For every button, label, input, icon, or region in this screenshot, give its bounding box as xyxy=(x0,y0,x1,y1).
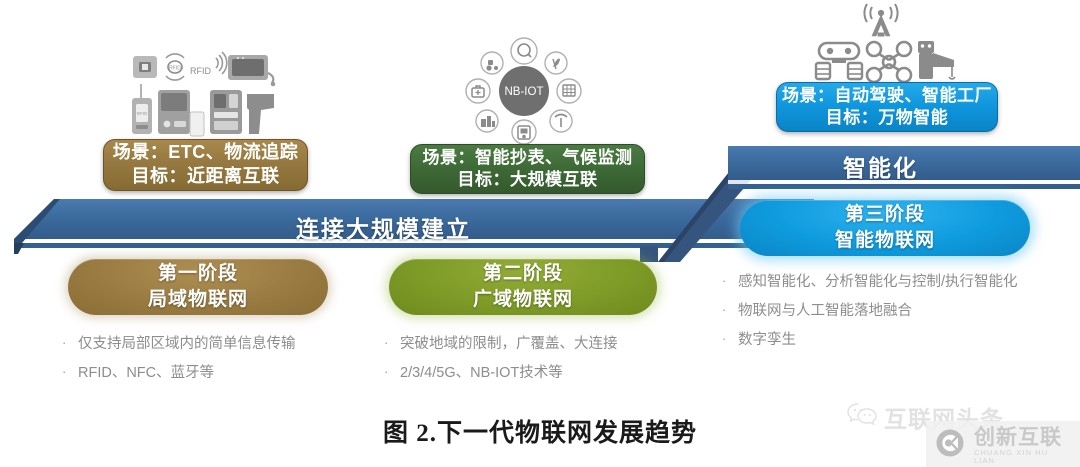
stage2-icon-cluster: NB-IOT xyxy=(463,37,585,145)
stage3-icon-cluster xyxy=(806,3,956,83)
stage3-scenario-line2: 目标：万物智能 xyxy=(826,107,949,129)
nbiot-hub-label: NB-IOT xyxy=(505,86,544,98)
smart-tracking-icon xyxy=(511,38,537,64)
stage3-pill-line1: 第三阶段 xyxy=(845,202,925,228)
bullet-dot: · xyxy=(722,326,738,352)
rfid-gun-scanner-icon xyxy=(247,94,274,134)
bullet-dot: · xyxy=(384,359,400,385)
stage2-bullets: · 突破地域的限制，广覆盖、大连接 · 2/3/4/5G、NB-IOT技术等 xyxy=(384,330,618,388)
rfid-reader-module-icon xyxy=(228,55,275,86)
banner-connectivity-label: 连接大规模建立 xyxy=(296,210,471,244)
stage2-bullet-2: 2/3/4/5G、NB-IOT技术等 xyxy=(400,359,563,388)
brand-watermark: 创新互联 CHUANG XIN HU LIAN xyxy=(926,421,1080,467)
stage1-bullet-2: RFID、NFC、蓝牙等 xyxy=(78,359,214,388)
stage3-bullet-2: 物联网与人工智能落地融合 xyxy=(738,297,912,326)
stage1-bullet-1: 仅支持局部区域内的简单信息传输 xyxy=(78,330,296,359)
stage3-bullets: · 感知智能化、分析智能化与控制/执行智能化 · 物联网与人工智能落地融合 · … xyxy=(722,268,1018,355)
brand-logo-text: 创新互联 CHUANG XIN HU LIAN xyxy=(974,427,1068,465)
robot-rover-icon xyxy=(816,43,862,79)
svg-text:RFID: RFID xyxy=(169,66,181,72)
drone-icon xyxy=(867,42,911,82)
robotic-arm-icon xyxy=(918,41,955,79)
stage3-bullet-1: 感知智能化、分析智能化与控制/执行智能化 xyxy=(738,268,1018,297)
rfid-label-icon: RFID xyxy=(190,52,227,76)
svg-text:RFID: RFID xyxy=(190,66,211,76)
rfid-card-icon xyxy=(190,112,204,136)
banner-intelligence-label: 智能化 xyxy=(843,149,918,183)
wechat-icon xyxy=(847,402,877,432)
bullet-dot: · xyxy=(722,297,738,323)
handheld-rfid-terminal-icon: RFID xyxy=(132,84,152,134)
stage2-bullet-1: 突破地域的限制，广覆盖、大连接 xyxy=(400,330,618,359)
stage1-pill-line1: 第一阶段 xyxy=(158,261,238,287)
list-item: · 突破地域的限制，广覆盖、大连接 xyxy=(384,330,618,359)
rfid-tag-icon xyxy=(133,56,157,78)
brand-name-en: CHUANG XIN HU LIAN xyxy=(974,449,1068,465)
stage2-pill-line1: 第二阶段 xyxy=(483,261,563,287)
stage3-scenario-box: 场景：自动驾驶、智能工厂 目标：万物智能 xyxy=(776,82,998,132)
stage1-icon-cluster: RFID RFID xyxy=(128,48,278,143)
stage1-scenario-line2: 目标：近距离互联 xyxy=(132,165,280,189)
list-item: · 仅支持局部区域内的简单信息传输 xyxy=(62,330,296,359)
stage2-pill: 第二阶段 广域物联网 xyxy=(389,259,657,315)
stage2-pill-line2: 广域物联网 xyxy=(473,287,573,313)
list-item: · 物联网与人工智能落地融合 xyxy=(722,297,1018,326)
stage3-pill: 第三阶段 智能物联网 xyxy=(740,200,1030,256)
list-item: · RFID、NFC、蓝牙等 xyxy=(62,359,296,388)
rfid-antenna-icon: RFID xyxy=(166,54,184,80)
stage3-scenario-line1: 场景：自动驾驶、智能工厂 xyxy=(782,85,992,107)
figure-canvas: RFID RFID xyxy=(0,0,1080,467)
signal-tower-icon xyxy=(864,4,897,36)
rfid-access-panel-icon xyxy=(210,90,242,134)
svg-text:RFID: RFID xyxy=(137,111,148,116)
stage2-scenario-line1: 场景：智能抄表、气候监测 xyxy=(423,147,633,169)
bullet-dot: · xyxy=(62,359,78,385)
stage2-scenario-box: 场景：智能抄表、气候监测 目标：大规模互联 xyxy=(410,144,645,194)
bullet-dot: · xyxy=(384,330,400,356)
list-item: · 感知智能化、分析智能化与控制/执行智能化 xyxy=(722,268,1018,297)
stage1-scenario-line1: 场景：ETC、物流追踪 xyxy=(113,141,299,165)
list-item: · 2/3/4/5G、NB-IOT技术等 xyxy=(384,359,618,388)
brand-logo-icon xyxy=(935,428,965,463)
solar-panel-icon xyxy=(557,79,581,103)
stage1-pill: 第一阶段 局域物联网 xyxy=(68,259,328,315)
bullet-dot: · xyxy=(722,268,738,294)
stage1-pill-line2: 局域物联网 xyxy=(148,287,248,313)
stage3-pill-line2: 智能物联网 xyxy=(835,228,935,254)
brand-name-cn: 创新互联 xyxy=(974,427,1068,449)
list-item: · 数字孪生 xyxy=(722,326,1018,355)
rfid-printer-icon xyxy=(158,90,190,134)
stage3-bullet-3: 数字孪生 xyxy=(738,326,796,355)
stage1-bullets: · 仅支持局部区域内的简单信息传输 · RFID、NFC、蓝牙等 xyxy=(62,330,296,388)
stage2-scenario-line2: 目标：大规模互联 xyxy=(458,169,598,191)
stage1-scenario-box: 场景：ETC、物流追踪 目标：近距离互联 xyxy=(103,139,308,191)
bullet-dot: · xyxy=(62,330,78,356)
